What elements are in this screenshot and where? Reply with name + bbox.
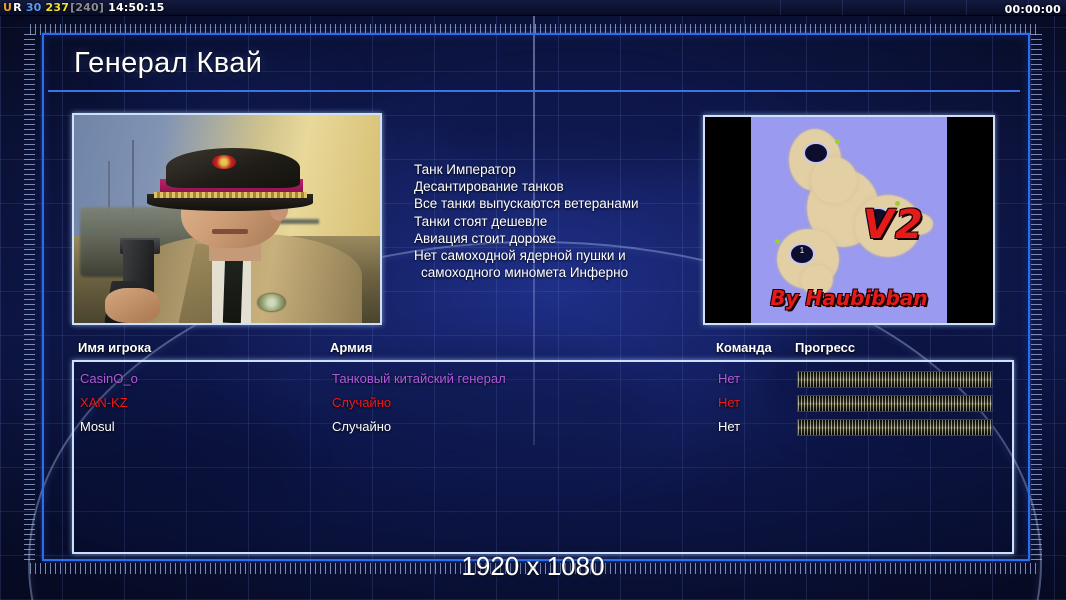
description-line: Нет самоходной ядерной пушки и bbox=[414, 247, 704, 264]
table-row[interactable]: CasinO_o Танковый китайский генерал Нет bbox=[74, 367, 1012, 391]
description-line: Танки стоят дешевле bbox=[414, 213, 704, 230]
fps-counter: 30 bbox=[26, 0, 42, 15]
description-line: самоходного миномета Инферно bbox=[414, 264, 704, 281]
table-row[interactable]: Mosul Случайно Нет bbox=[74, 415, 1012, 439]
frame-ruler-right bbox=[1031, 30, 1042, 560]
table-row[interactable]: XAN-KZ Случайно Нет bbox=[74, 391, 1012, 415]
mod-tag-u: U bbox=[3, 0, 12, 15]
ping-value: 237 bbox=[46, 0, 70, 15]
progress-fill bbox=[798, 396, 992, 411]
map-preview-frame[interactable]: 1 V2 By Haubibban bbox=[703, 115, 995, 325]
map-author-label: By Haubibban bbox=[770, 286, 927, 310]
player-progress-bar bbox=[797, 419, 993, 436]
progress-fill bbox=[798, 372, 992, 387]
status-bar-right: 00:00:00 bbox=[1005, 0, 1061, 18]
player-name: XAN-KZ bbox=[80, 391, 128, 415]
title-bar: Генерал Квай bbox=[48, 42, 1020, 92]
player-team[interactable]: Нет bbox=[718, 367, 740, 391]
game-lobby-screen: U R 30 237 [240] 14:50:15 00:00:00 Генер… bbox=[0, 0, 1066, 600]
player-progress-bar bbox=[797, 395, 993, 412]
player-name: Mosul bbox=[80, 415, 115, 439]
general-portrait-image bbox=[74, 115, 380, 323]
start-position-label: 1 bbox=[791, 245, 813, 263]
game-timer: 00:00:00 bbox=[1005, 3, 1061, 16]
player-army[interactable]: Случайно bbox=[332, 415, 391, 439]
description-line: Все танки выпускаются ветеранами bbox=[414, 195, 704, 212]
player-army[interactable]: Танковый китайский генерал bbox=[332, 367, 506, 391]
map-version-label: V2 bbox=[863, 202, 924, 248]
general-description-list: Танк Император Десантирование танков Все… bbox=[414, 161, 704, 281]
map-start-position: 1 bbox=[789, 243, 815, 265]
map-start-position bbox=[803, 142, 829, 164]
general-portrait-frame bbox=[72, 113, 382, 325]
start-position-label bbox=[805, 144, 827, 162]
page-title: Генерал Квай bbox=[74, 47, 262, 80]
progress-fill bbox=[798, 420, 992, 435]
map-playable-area: 1 V2 By Haubibban bbox=[751, 117, 947, 323]
frame-ruler-left bbox=[24, 30, 35, 560]
column-header-team: Команда bbox=[716, 340, 772, 355]
column-header-progress: Прогресс bbox=[795, 340, 855, 355]
player-army[interactable]: Случайно bbox=[332, 391, 391, 415]
description-line: Танк Император bbox=[414, 161, 704, 178]
description-line: Авиация стоит дороже bbox=[414, 230, 704, 247]
column-header-army: Армия bbox=[330, 340, 372, 355]
description-line: Десантирование танков bbox=[414, 178, 704, 195]
status-bar-left: U R 30 237 [240] 14:50:15 bbox=[3, 0, 164, 15]
status-bar: U R 30 237 [240] 14:50:15 00:00:00 bbox=[0, 0, 1066, 16]
player-table-header: Имя игрока Армия Команда Прогресс bbox=[78, 340, 1008, 358]
player-table: CasinO_o Танковый китайский генерал Нет … bbox=[72, 360, 1014, 554]
system-clock: 14:50:15 bbox=[108, 0, 164, 15]
resolution-label: 1920 x 1080 bbox=[0, 551, 1066, 582]
player-team[interactable]: Нет bbox=[718, 391, 740, 415]
player-progress-bar bbox=[797, 371, 993, 388]
map-preview-image: 1 V2 By Haubibban bbox=[705, 117, 993, 323]
mod-tag-r: R bbox=[13, 0, 22, 15]
player-team[interactable]: Нет bbox=[718, 415, 740, 439]
ping-max-value: [240] bbox=[70, 0, 104, 15]
player-name: CasinO_o bbox=[80, 367, 138, 391]
column-header-player-name: Имя игрока bbox=[78, 340, 151, 355]
